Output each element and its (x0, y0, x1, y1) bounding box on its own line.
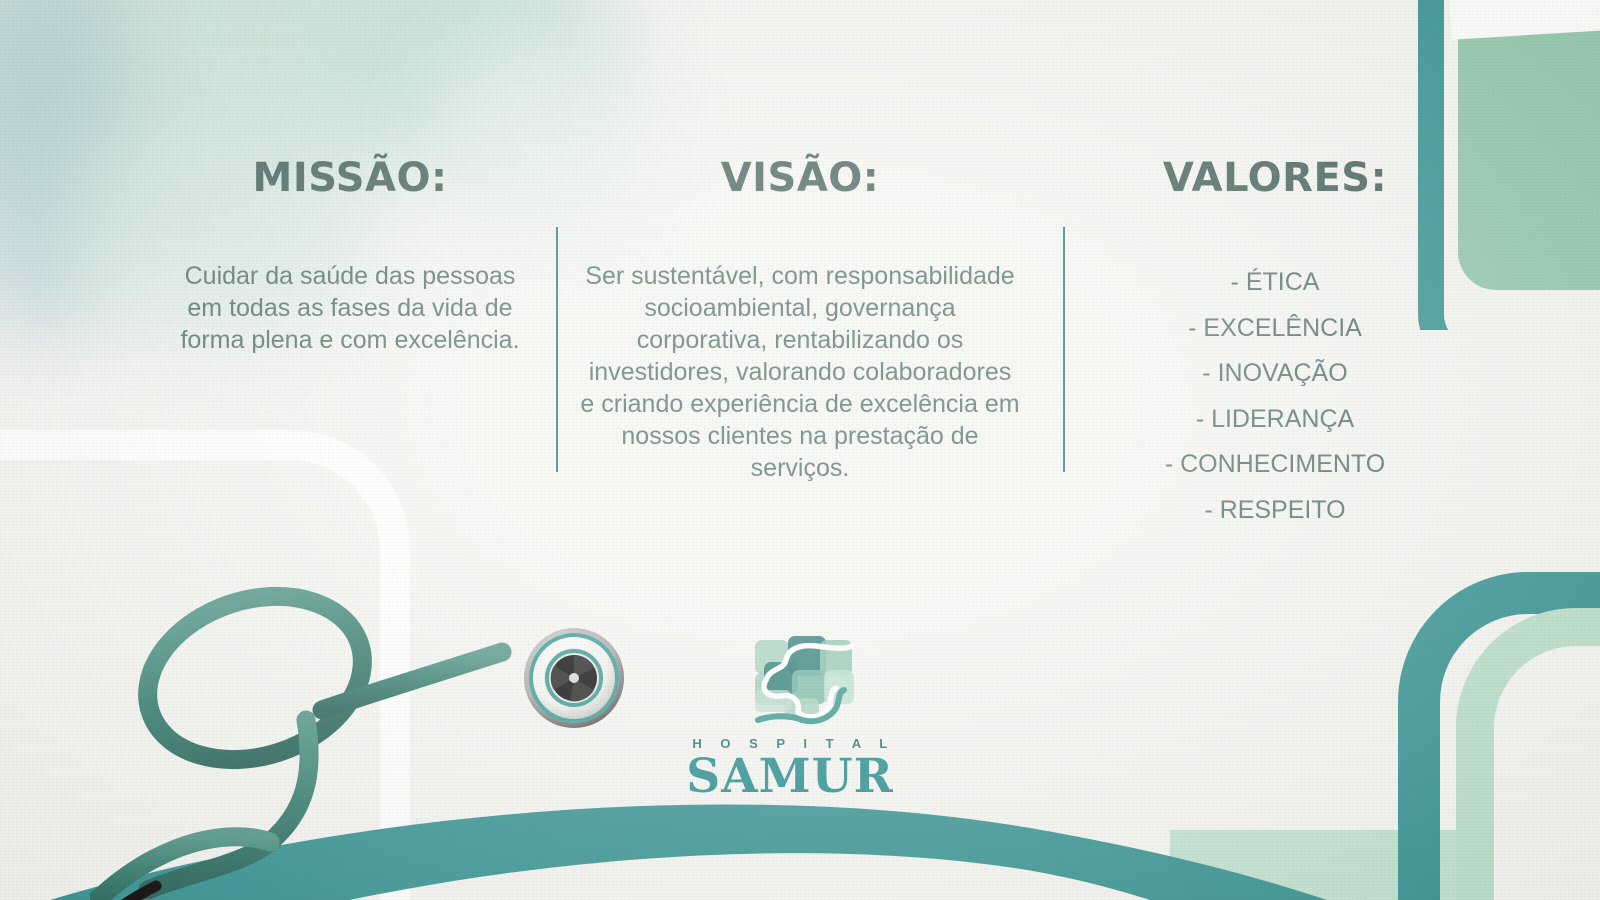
valores-list: - ÉTICA - EXCELÊNCIA - INOVAÇÃO - LIDERA… (1095, 260, 1455, 533)
hospital-samur-logo: H O S P I T A L SAMUR (680, 628, 900, 808)
list-item: - CONHECIMENTO (1095, 442, 1455, 488)
visao-body: Ser sustentável, com responsabilidade so… (580, 260, 1020, 484)
visao-title: VISÃO: (580, 158, 1020, 198)
list-item: - INOVAÇÃO (1095, 351, 1455, 397)
missao-body: Cuidar da saúde das pessoas em todas as … (170, 260, 530, 356)
list-item: - ÉTICA (1095, 260, 1455, 306)
column-visao: VISÃO: Ser sustentável, com responsabili… (580, 158, 1020, 484)
list-item: - LIDERANÇA (1095, 397, 1455, 443)
list-item: - RESPEITO (1095, 488, 1455, 534)
column-missao: MISSÃO: Cuidar da saúde das pessoas em t… (170, 158, 530, 356)
list-item: - EXCELÊNCIA (1095, 306, 1455, 352)
missao-title: MISSÃO: (170, 158, 530, 198)
valores-title: VALORES: (1095, 158, 1455, 198)
logo-cross-mark-icon (680, 628, 900, 728)
column-valores: VALORES: - ÉTICA - EXCELÊNCIA - INOVAÇÃO… (1095, 158, 1455, 533)
slide-canvas: MISSÃO: Cuidar da saúde das pessoas em t… (0, 0, 1600, 900)
logo-wordmark: SAMUR (680, 753, 900, 800)
